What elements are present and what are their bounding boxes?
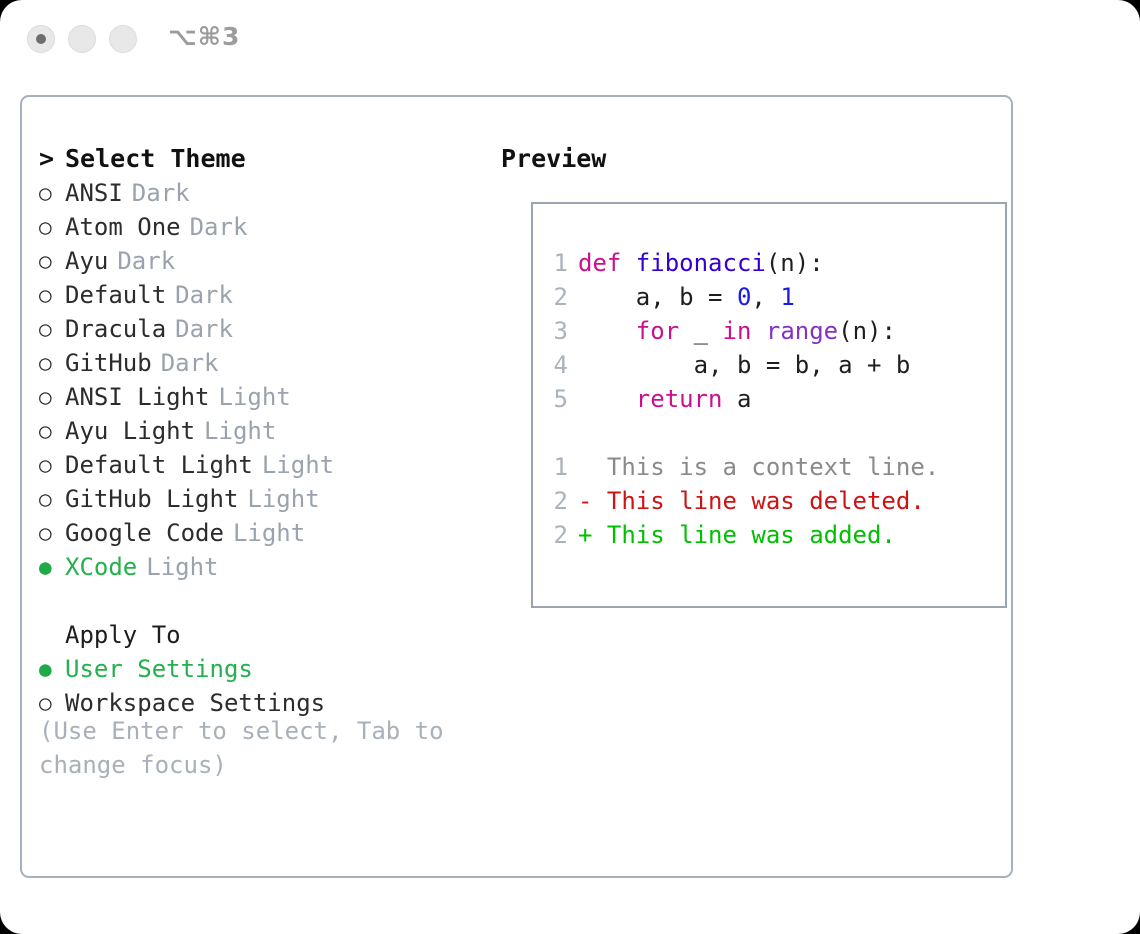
- preview-title: Preview: [501, 142, 1001, 176]
- code-line: 2 a, b = 0, 1: [548, 280, 939, 314]
- apply-to-list: ●User Settings○Workspace Settings: [39, 652, 489, 720]
- theme-name: Ayu Light: [65, 414, 195, 448]
- code-line: 5 return a: [548, 382, 939, 416]
- radio-empty-icon: ○: [39, 278, 65, 312]
- theme-variant: Dark: [161, 346, 219, 380]
- apply-to-heading-row: Apply To: [39, 618, 489, 652]
- traffic-lights: [27, 25, 137, 53]
- radio-empty-icon: ○: [39, 176, 65, 210]
- main-panel: > Select Theme ○ANSIDark○Atom OneDark○Ay…: [20, 95, 1013, 878]
- code-token: a: [723, 385, 752, 413]
- theme-name: Default Light: [65, 448, 253, 482]
- code-token: return: [636, 385, 723, 413]
- apply-to-option-label: User Settings: [65, 652, 253, 686]
- theme-name: XCode: [65, 550, 137, 584]
- keyboard-hint-line-1: (Use Enter to select, Tab to: [39, 714, 459, 748]
- code-token: def: [578, 249, 636, 277]
- theme-variant: Dark: [117, 244, 175, 278]
- diff-line: 1 This is a context line.: [548, 450, 939, 484]
- radio-empty-icon: ○: [39, 516, 65, 550]
- code-token: [578, 385, 636, 413]
- recording-dot-inner: [36, 34, 46, 44]
- theme-list-item[interactable]: ○ANSI LightLight: [39, 380, 489, 414]
- radio-empty-icon: ○: [39, 414, 65, 448]
- window-dot-2-icon[interactable]: [68, 25, 96, 53]
- theme-picker: > Select Theme ○ANSIDark○Atom OneDark○Ay…: [39, 142, 489, 720]
- title-bar: ⌥⌘3: [0, 0, 1140, 80]
- theme-name: Ayu: [65, 244, 108, 278]
- theme-list-item[interactable]: ○DraculaDark: [39, 312, 489, 346]
- theme-name: ANSI: [65, 176, 123, 210]
- theme-name: Atom One: [65, 210, 181, 244]
- preview-pane: Preview 1def fibonacci(n):2 a, b = 0, 13…: [501, 142, 1001, 176]
- line-number: 2: [548, 518, 568, 552]
- code-token: + This line was added.: [578, 521, 896, 549]
- code-token: fibonacci: [636, 249, 766, 277]
- diff-line: 2- This line was deleted.: [548, 484, 939, 518]
- theme-list-item[interactable]: ○GitHub LightLight: [39, 482, 489, 516]
- code-line: 1def fibonacci(n):: [548, 246, 939, 280]
- code-token: [751, 317, 765, 345]
- caret-icon: >: [39, 142, 65, 176]
- theme-list-item[interactable]: ○ANSIDark: [39, 176, 489, 210]
- keyboard-shortcut-label: ⌥⌘3: [168, 22, 240, 51]
- code-token: (n):: [838, 317, 896, 345]
- keyboard-hint: (Use Enter to select, Tab to change focu…: [39, 714, 459, 782]
- code-gap: [548, 416, 939, 450]
- radio-empty-icon: ○: [39, 210, 65, 244]
- list-spacer: [39, 584, 489, 618]
- preview-code: 1def fibonacci(n):2 a, b = 0, 13 for _ i…: [548, 246, 939, 552]
- code-token: range: [766, 317, 838, 345]
- recording-dot-icon[interactable]: [27, 25, 55, 53]
- theme-variant: Light: [204, 414, 276, 448]
- theme-variant: Dark: [132, 176, 190, 210]
- theme-list-item[interactable]: ○Ayu LightLight: [39, 414, 489, 448]
- radio-empty-icon: ○: [39, 380, 65, 414]
- theme-picker-heading: Select Theme: [65, 142, 246, 176]
- radio-empty-icon: ○: [39, 346, 65, 380]
- line-number: 5: [548, 382, 568, 416]
- theme-list-item[interactable]: ○GitHubDark: [39, 346, 489, 380]
- diff-line: 2+ This line was added.: [548, 518, 939, 552]
- theme-variant: Dark: [175, 278, 233, 312]
- radio-empty-icon: ○: [39, 244, 65, 278]
- code-line: 3 for _ in range(n):: [548, 314, 939, 348]
- code-token: 0: [737, 283, 751, 311]
- app-window: ⌥⌘3 > Select Theme ○ANSIDark○Atom OneDar…: [0, 0, 1140, 934]
- radio-selected-icon: ●: [39, 550, 65, 584]
- code-token: a, b =: [578, 283, 737, 311]
- theme-list-item[interactable]: ●XCodeLight: [39, 550, 489, 584]
- code-token: a, b = b, a + b: [578, 351, 910, 379]
- apply-to-heading: Apply To: [65, 618, 181, 652]
- code-token: This is a context line.: [578, 453, 939, 481]
- radio-empty-icon: ○: [39, 448, 65, 482]
- theme-variant: Light: [219, 380, 291, 414]
- radio-selected-icon: ●: [39, 652, 65, 686]
- line-number: 4: [548, 348, 568, 382]
- theme-name: Google Code: [65, 516, 224, 550]
- theme-list-item[interactable]: ○AyuDark: [39, 244, 489, 278]
- theme-list-item[interactable]: ○Google CodeLight: [39, 516, 489, 550]
- code-token: 1: [780, 283, 794, 311]
- keyboard-hint-line-2: change focus): [39, 748, 459, 782]
- theme-variant: Dark: [175, 312, 233, 346]
- line-number: 3: [548, 314, 568, 348]
- code-token: _: [679, 317, 722, 345]
- theme-variant: Light: [146, 550, 218, 584]
- code-token: - This line was deleted.: [578, 487, 925, 515]
- code-token: for: [636, 317, 679, 345]
- line-number: 1: [548, 246, 568, 280]
- code-line: 4 a, b = b, a + b: [548, 348, 939, 382]
- theme-name: Dracula: [65, 312, 166, 346]
- theme-variant: Dark: [190, 210, 248, 244]
- theme-name: GitHub Light: [65, 482, 238, 516]
- theme-name: ANSI Light: [65, 380, 210, 414]
- code-token: (n):: [766, 249, 824, 277]
- line-number: 2: [548, 484, 568, 518]
- radio-empty-icon: ○: [39, 312, 65, 346]
- theme-list: ○ANSIDark○Atom OneDark○AyuDark○DefaultDa…: [39, 176, 489, 584]
- line-number: 1: [548, 450, 568, 484]
- theme-picker-heading-row: > Select Theme: [39, 142, 489, 176]
- radio-empty-icon: ○: [39, 482, 65, 516]
- theme-variant: Light: [247, 482, 319, 516]
- line-number: 2: [548, 280, 568, 314]
- code-token: ,: [751, 283, 780, 311]
- preview-box: 1def fibonacci(n):2 a, b = 0, 13 for _ i…: [531, 202, 1007, 608]
- theme-variant: Light: [233, 516, 305, 550]
- theme-name: GitHub: [65, 346, 152, 380]
- theme-list-item[interactable]: ○Default LightLight: [39, 448, 489, 482]
- theme-list-item[interactable]: ○DefaultDark: [39, 278, 489, 312]
- code-token: in: [723, 317, 752, 345]
- theme-name: Default: [65, 278, 166, 312]
- window-dot-3-icon[interactable]: [109, 25, 137, 53]
- apply-to-option[interactable]: ●User Settings: [39, 652, 489, 686]
- theme-variant: Light: [262, 448, 334, 482]
- theme-list-item[interactable]: ○Atom OneDark: [39, 210, 489, 244]
- code-token: [578, 317, 636, 345]
